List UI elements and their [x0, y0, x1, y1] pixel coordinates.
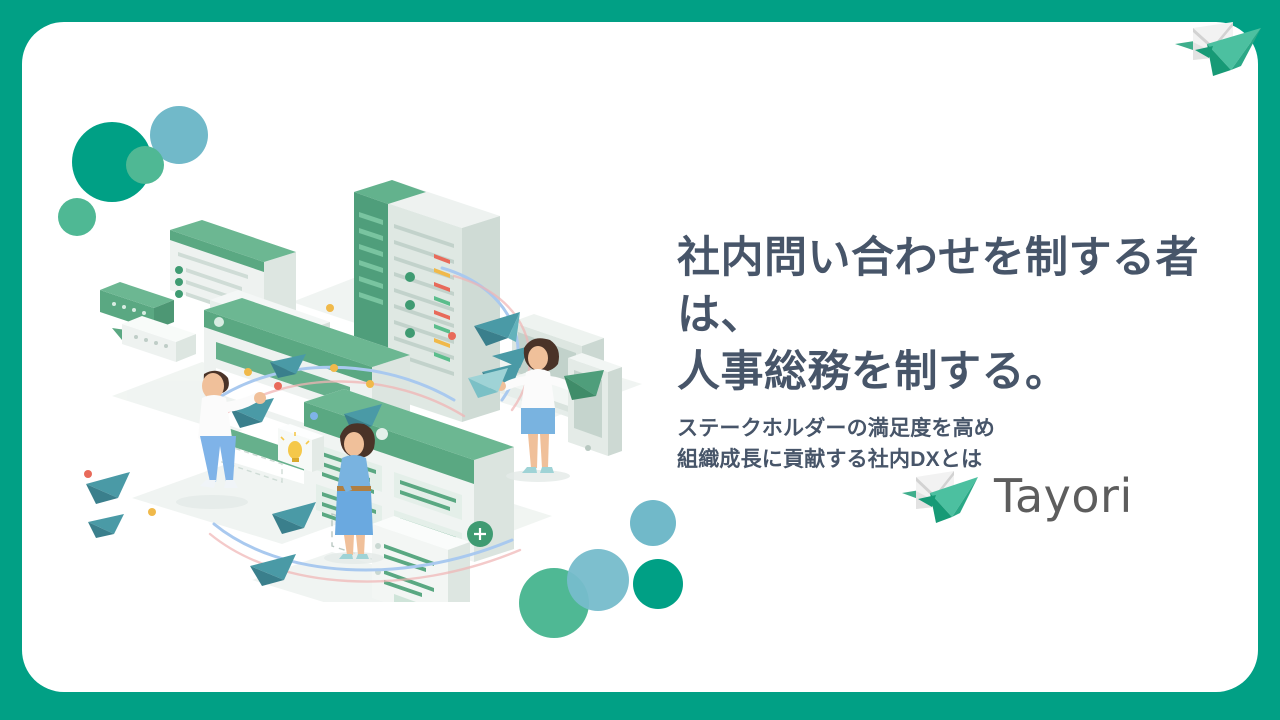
corner-envelope-paperplane-icon [1175, 18, 1263, 80]
envelope-paperplane-icon [902, 465, 980, 527]
slide-root: 社内問い合わせを制する者は、 人事総務を制する。 ステークホルダーの満足度を高め… [0, 0, 1280, 720]
slide-white-panel: 社内問い合わせを制する者は、 人事総務を制する。 ステークホルダーの満足度を高め… [22, 22, 1258, 692]
isometric-illustration [82, 172, 682, 602]
tayori-logo-lockup: Tayori [902, 465, 1133, 527]
page-title: 社内問い合わせを制する者は、 人事総務を制する。 [677, 230, 1237, 400]
headline-block: 社内問い合わせを制する者は、 人事総務を制する。 ステークホルダーの満足度を高め… [677, 230, 1237, 475]
tayori-wordmark: Tayori [994, 473, 1133, 519]
